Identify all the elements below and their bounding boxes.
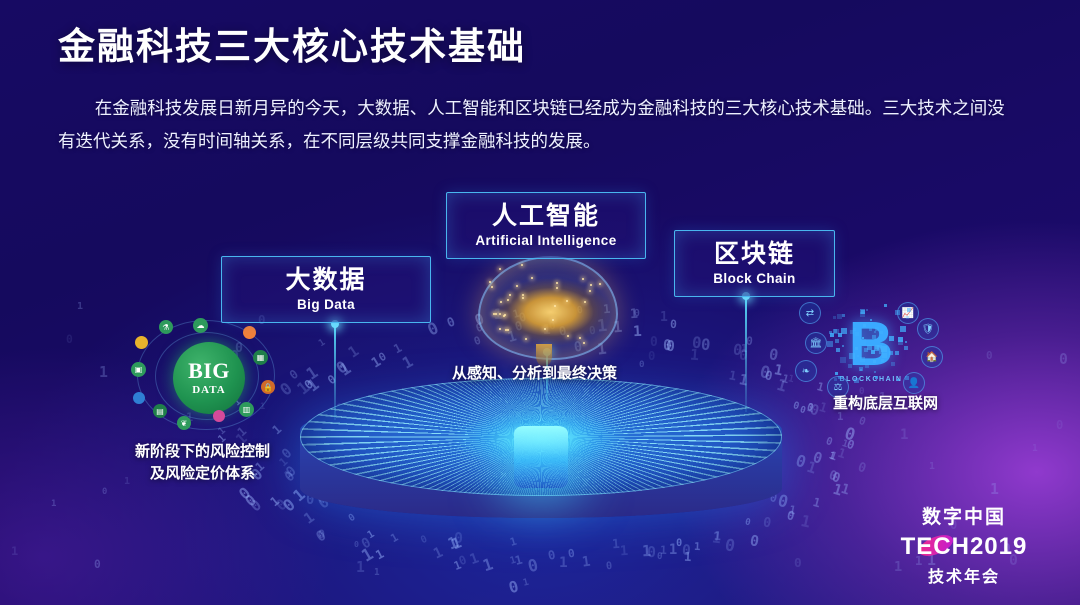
- pillar-card-bigdata-subtitle: Big Data: [238, 297, 414, 312]
- binary-glyph: 1: [612, 536, 623, 552]
- binary-glyph: 0: [247, 495, 267, 516]
- binary-glyph: 1: [659, 543, 668, 557]
- binary-glyph: 1: [508, 534, 520, 549]
- binary-glyph: 1: [445, 531, 463, 553]
- blockchain-pixel: [834, 378, 837, 381]
- blockchain-pixel: [866, 309, 868, 311]
- binary-glyph: 1: [374, 567, 382, 578]
- brain-spark: [556, 282, 558, 284]
- binary-glyph: 1: [365, 528, 378, 542]
- binary-glyph: 0: [856, 460, 870, 477]
- binary-glyph: 0: [567, 547, 578, 561]
- blockchain-pixel: [870, 319, 872, 321]
- brain-spark: [507, 329, 509, 331]
- blockchain-pixel: [835, 339, 839, 343]
- brain-spark: [500, 301, 502, 303]
- binary-glyph: 0: [66, 333, 75, 346]
- binary-glyph: 1: [713, 529, 723, 544]
- body-paragraph: 在金融科技发展日新月异的今天，大数据、人工智能和区块链已经成为金融科技的三大核心…: [58, 92, 1020, 158]
- binary-glyph: 0: [749, 532, 763, 551]
- binary-glyph: 1: [642, 542, 654, 560]
- blockchain-pixel: [882, 353, 887, 358]
- binary-glyph: 0: [376, 348, 390, 364]
- pillar-card-ai-subtitle: Artificial Intelligence: [463, 233, 629, 248]
- bigdata-node-image-icon: ▣: [131, 362, 146, 377]
- blockchain-pixel: [833, 316, 836, 319]
- bigdata-node-leaf-icon: ❦: [177, 416, 191, 430]
- brain-spark: [531, 277, 533, 279]
- brain-spark: [499, 328, 501, 330]
- binary-glyph: 1: [467, 550, 482, 569]
- blockchain-pixel: [884, 304, 887, 307]
- blockchain-pixel: [874, 371, 876, 373]
- binary-glyph: 1: [900, 427, 910, 443]
- caption-bigdata-line2: 及风险定价体系: [95, 463, 310, 485]
- binary-glyph: 1: [317, 336, 329, 349]
- brain-spark: [491, 286, 493, 288]
- binary-glyph: 0: [650, 335, 660, 350]
- binary-glyph: 0: [419, 533, 431, 546]
- binary-glyph: 1: [836, 445, 850, 462]
- binary-glyph: 0: [457, 552, 471, 568]
- binary-glyph: 1: [345, 342, 364, 362]
- binary-glyph: 0: [547, 547, 559, 563]
- pillar-card-blockchain-subtitle: Block Chain: [691, 271, 818, 286]
- binary-glyph: 0: [732, 340, 746, 360]
- brain-spark: [582, 278, 584, 280]
- brain-spark: [567, 335, 569, 337]
- binary-glyph: 0: [986, 349, 995, 362]
- binary-glyph: 1: [804, 458, 820, 479]
- binary-glyph: 0: [359, 533, 376, 552]
- brain-spark: [583, 342, 585, 344]
- binary-glyph: 1: [356, 559, 367, 576]
- binary-glyph: 0: [526, 555, 542, 576]
- event-logo: 数字中国 TECH2019 技术年会: [884, 502, 1044, 587]
- binary-glyph: 1: [693, 540, 702, 553]
- binary-glyph: 1: [831, 481, 846, 500]
- binary-glyph: 1: [684, 548, 694, 563]
- blockchain-pixel: [875, 376, 878, 379]
- blockchain-pixel: [871, 350, 875, 354]
- binary-glyph: 0: [318, 527, 327, 541]
- binary-glyph: 0: [662, 337, 673, 354]
- caption-ai: 从感知、分析到最终决策: [412, 363, 657, 385]
- blockchain-pixel: [850, 330, 854, 334]
- blockchain-pixel: [855, 332, 859, 336]
- blockchain-pixel: [848, 364, 852, 368]
- binary-glyph: 0: [445, 312, 459, 329]
- binary-glyph: 0: [845, 437, 858, 453]
- binary-glyph: 0: [648, 349, 657, 363]
- bigdata-label-primary: BIG: [188, 360, 230, 382]
- pillar-card-bigdata[interactable]: 大数据 Big Data: [221, 256, 431, 323]
- slide-canvas: 1000111010100011101010001110101000111010…: [0, 0, 1080, 605]
- binary-glyph: 0: [279, 493, 300, 515]
- blockchain-pixel: [895, 310, 900, 315]
- blockchain-pixel: [880, 331, 883, 334]
- logo-line-annual-conference: 技术年会: [884, 563, 1044, 587]
- pillar-card-bigdata-title: 大数据: [238, 266, 414, 294]
- binary-glyph: 0: [676, 538, 684, 549]
- binary-glyph: 1: [669, 542, 679, 558]
- brain-spark: [504, 314, 506, 316]
- blockchain-pixel: [863, 324, 866, 327]
- binary-glyph: 0: [842, 422, 860, 445]
- bigdata-node-chart-icon: ▦: [253, 350, 268, 365]
- brain-spark: [590, 284, 592, 286]
- blockchain-pixel: [889, 336, 894, 341]
- blockchain-pixel: [898, 340, 903, 345]
- blockchain-node-leaf-icon: ❧: [795, 360, 817, 382]
- binary-glyph: 1: [77, 301, 85, 312]
- binary-glyph: 0: [273, 495, 292, 515]
- binary-glyph: 1: [368, 353, 385, 372]
- blockchain-pixel: [842, 314, 845, 317]
- binary-glyph: 1: [630, 307, 641, 323]
- binary-glyph: 1: [781, 372, 793, 387]
- blockchain-pixel: [829, 331, 832, 334]
- binary-glyph: 0: [507, 576, 523, 596]
- binary-glyph: 0: [794, 556, 804, 571]
- binary-glyph: 0: [830, 470, 844, 487]
- blockchain-pixel: [872, 335, 876, 339]
- blockchain-pixel: [838, 376, 841, 379]
- disc-core-glow: [514, 426, 568, 488]
- binary-glyph: 0: [354, 539, 361, 549]
- binary-glyph: 1: [336, 358, 356, 380]
- bigdata-node-cloud-icon: ☁: [193, 318, 208, 333]
- blockchain-pixel: [859, 367, 863, 371]
- binary-glyph: 0: [657, 550, 665, 561]
- bigdata-node-flask-icon: ⚗: [159, 320, 173, 334]
- logo-line-digital-china: 数字中国: [884, 502, 1044, 529]
- brain-spark: [516, 285, 518, 287]
- bigdata-node-doc-icon: ▤: [153, 404, 167, 418]
- pillar-card-blockchain[interactable]: 区块链 Block Chain: [674, 230, 835, 297]
- binary-glyph: 0: [1056, 418, 1065, 432]
- brain-spark: [584, 301, 586, 303]
- blockchain-pixel: [854, 378, 859, 383]
- logo-tech2019-text: TECH2019: [901, 533, 1028, 560]
- binary-glyph: 0: [242, 489, 262, 510]
- binary-glyph: 0: [692, 334, 705, 353]
- binary-glyph: 0: [333, 356, 352, 377]
- pillar-card-ai-title: 人工智能: [463, 202, 629, 230]
- binary-glyph: 1: [827, 450, 838, 463]
- blockchain-pixel: [904, 346, 908, 350]
- blockchain-node-exchange-icon: ⇄: [799, 302, 821, 324]
- blockchain-pixel: [891, 362, 895, 366]
- binary-glyph: 0: [701, 336, 714, 355]
- binary-glyph: 1: [391, 339, 406, 356]
- binary-glyph: 1: [839, 480, 853, 498]
- blockchain-pixel: [865, 364, 869, 368]
- binary-glyph: 0: [785, 508, 797, 524]
- caption-bigdata-line1: 新阶段下的风险控制: [95, 441, 310, 463]
- binary-glyph: 1: [788, 503, 799, 518]
- brain-spark: [525, 338, 527, 340]
- connector-stem-bigdata: [334, 324, 336, 420]
- caption-bigdata: 新阶段下的风险控制 及风险定价体系: [95, 441, 310, 485]
- binary-glyph: 0: [236, 482, 256, 503]
- blockchain-pixel: [873, 360, 876, 363]
- binary-glyph: 0: [811, 448, 827, 468]
- binary-glyph: 1: [51, 499, 58, 509]
- binary-glyph: 1: [522, 576, 532, 589]
- blockchain-pixel: [874, 331, 876, 333]
- binary-glyph: 1: [689, 345, 701, 364]
- binary-glyph: 1: [480, 554, 497, 576]
- brain-spark: [495, 313, 497, 315]
- binary-glyph: 0: [605, 560, 614, 573]
- binary-glyph: 1: [620, 542, 631, 559]
- bigdata-label-secondary: DATA: [192, 384, 226, 396]
- platform-disc: [300, 378, 782, 528]
- binary-glyph: 1: [99, 364, 110, 381]
- blockchain-pixel: [849, 353, 855, 359]
- binary-glyph: 0: [314, 526, 332, 545]
- blockchain-pixel: [905, 341, 907, 343]
- blockchain-pixel: [895, 351, 899, 355]
- bigdata-node-dot-blue: [133, 392, 145, 404]
- page-title: 金融科技三大核心技术基础: [58, 16, 526, 70]
- binary-glyph: 0: [102, 487, 109, 497]
- binary-glyph: 0: [647, 543, 658, 561]
- blockchain-pixel: [827, 341, 833, 347]
- binary-glyph: 0: [681, 541, 693, 559]
- pillar-card-blockchain-title: 区块链: [691, 240, 818, 268]
- blockchain-node-shield-icon: 🛡: [917, 318, 939, 340]
- brain-spark: [507, 299, 509, 301]
- binary-glyph: 1: [267, 493, 283, 510]
- bigdata-node-dot-yellow: [135, 336, 148, 349]
- bigdata-node-bars-icon: ▥: [239, 402, 254, 417]
- brain-spark: [566, 300, 568, 302]
- brain-spark: [554, 305, 556, 307]
- blockchain-pixel: [860, 339, 866, 345]
- blockchain-pixel: [836, 348, 840, 352]
- binary-glyph: 0: [454, 529, 465, 547]
- bigdata-globe: BIG DATA: [173, 342, 245, 414]
- binary-glyph: 1: [711, 530, 724, 548]
- blockchain-node-graph-icon: 📈: [897, 302, 919, 324]
- brain-spark: [489, 281, 491, 283]
- binary-glyph: 1: [389, 530, 403, 546]
- binary-glyph: 0: [768, 345, 782, 365]
- binary-glyph: 1: [660, 310, 670, 325]
- binary-glyph: 0: [670, 318, 680, 331]
- binary-glyph: 1: [452, 557, 465, 573]
- binary-glyph: 1: [449, 533, 466, 554]
- blockchain-pixel: [840, 357, 846, 363]
- brain-spark: [521, 264, 523, 266]
- blockchain-pixel: [842, 345, 844, 347]
- binary-glyph: 1: [828, 449, 840, 464]
- binary-glyph: 0: [824, 435, 836, 449]
- binary-glyph: 1: [373, 546, 388, 563]
- bigdata-node-dot-orange: [243, 326, 256, 339]
- binary-glyph: 1: [508, 555, 519, 568]
- binary-glyph: 0: [665, 338, 677, 355]
- blockchain-pixel: [838, 333, 842, 337]
- binary-glyph: 1: [559, 555, 570, 571]
- brain-spark: [589, 290, 591, 292]
- blockchain-pixel: [897, 379, 899, 381]
- blockchain-pixel: [881, 359, 884, 362]
- blockchain-node-bank-icon: 🏛: [805, 332, 827, 354]
- brain-spark: [552, 319, 554, 321]
- brain-spark: [522, 297, 524, 299]
- blockchain-node-home-icon: 🏠: [921, 346, 943, 368]
- blockchain-pixel: [900, 326, 906, 332]
- brain-illustration: [478, 256, 618, 360]
- blockchain-pixel: [905, 376, 909, 380]
- binary-glyph: 0: [94, 558, 103, 571]
- brain-spark: [599, 283, 601, 285]
- blockchain-pixel: [835, 372, 838, 375]
- binary-glyph: 1: [990, 481, 1001, 498]
- binary-glyph: 0: [793, 450, 810, 472]
- binary-glyph: 0: [724, 535, 739, 556]
- bigdata-illustration: BIG DATA ☁ ▦ 🔒 ▥ ❦ ▤ ▣ ⚗: [131, 318, 281, 436]
- binary-glyph: 1: [581, 553, 593, 570]
- blockchain-illustration: B BLOCKCHAIN ⇄ 🏛 ❧ ⚖ 👤 🏠 🛡 📈: [793, 302, 949, 398]
- caption-blockchain: 重构底层互联网: [793, 393, 978, 415]
- binary-glyph: 1: [812, 495, 825, 511]
- pillar-card-ai[interactable]: 人工智能 Artificial Intelligence: [446, 192, 646, 259]
- binary-glyph: 1: [1032, 443, 1040, 454]
- bigdata-node-lock-icon: 🔒: [261, 380, 275, 394]
- brain-spark: [499, 313, 501, 315]
- blockchain-pixel: [889, 351, 893, 355]
- logo-line-tech2019: TECH2019: [901, 533, 1028, 561]
- brain-spark: [556, 287, 558, 289]
- brain-spark: [522, 294, 524, 296]
- binary-glyph: 1: [431, 544, 447, 563]
- binary-glyph: 1: [929, 461, 937, 472]
- blockchain-pixel: [855, 347, 858, 350]
- binary-glyph: 0: [827, 468, 841, 485]
- blockchain-pixel: [861, 310, 865, 314]
- blockchain-pixel: [906, 316, 909, 319]
- blockchain-pixel: [857, 355, 859, 357]
- connector-stem-blockchain: [745, 296, 747, 412]
- brain-spark: [544, 328, 546, 330]
- binary-glyph: 0: [857, 414, 869, 429]
- binary-glyph: 0: [1059, 351, 1070, 368]
- bigdata-node-dot-pink: [213, 410, 225, 422]
- brain-spark: [509, 294, 511, 296]
- binary-glyph: 1: [358, 542, 379, 565]
- binary-glyph: 1: [799, 511, 814, 532]
- binary-glyph: 1: [840, 438, 851, 451]
- brain-spark: [579, 337, 581, 339]
- binary-glyph: 1: [633, 323, 645, 340]
- blockchain-pixel: [907, 308, 911, 312]
- binary-glyph: 1: [513, 552, 525, 568]
- blockchain-pixel: [869, 328, 872, 331]
- binary-glyph: 0: [634, 308, 642, 319]
- brain-spark: [499, 268, 501, 270]
- blockchain-pixel: [860, 357, 865, 362]
- binary-glyph: 1: [11, 544, 20, 558]
